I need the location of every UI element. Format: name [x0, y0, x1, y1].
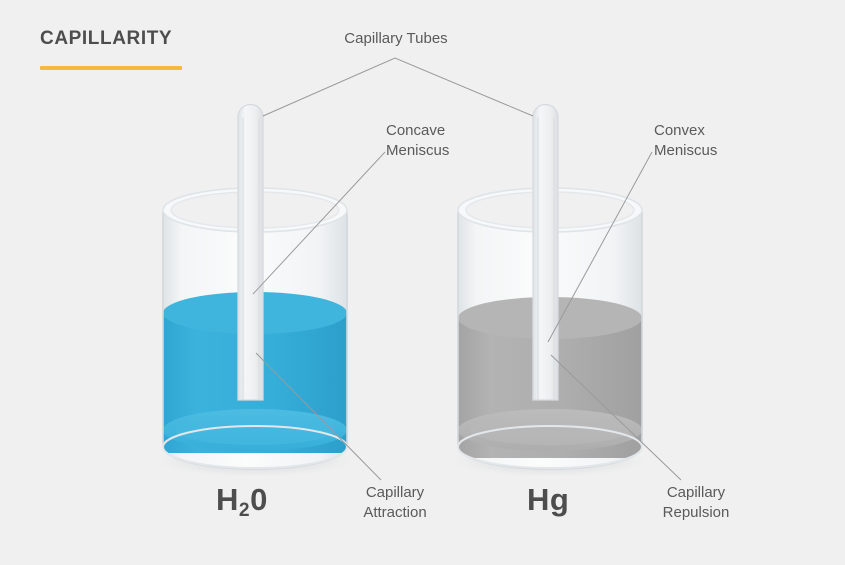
formula-water-subscript: 2 [239, 500, 250, 521]
formula-mercury-main: Hg [527, 482, 569, 517]
label-capillary-repulsion: Capillary Repulsion [634, 483, 758, 523]
label-convex-meniscus: Convex Meniscus [654, 121, 774, 161]
formula-water-main: H [216, 482, 239, 517]
label-capillary-attraction: Capillary Attraction [333, 483, 457, 523]
leader-capillary-tubes [263, 58, 533, 116]
formula-water-tail: 0 [250, 482, 268, 517]
formula-mercury: Hg [527, 482, 569, 518]
label-capillary-tubes: Capillary Tubes [330, 29, 462, 49]
label-concave-meniscus: Concave Meniscus [386, 121, 506, 161]
formula-water: H20 [216, 482, 268, 518]
diagram-canvas [0, 0, 845, 565]
capillarity-infographic: CAPILLARITY [0, 0, 845, 565]
